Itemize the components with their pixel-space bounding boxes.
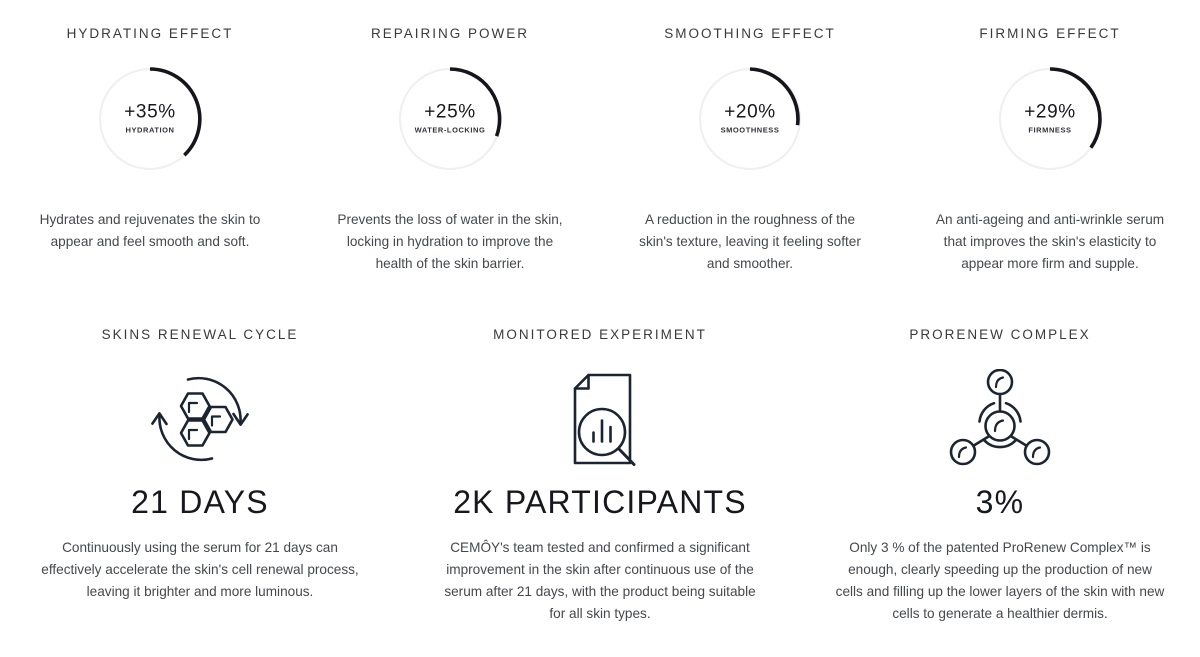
feature-headline: 3% bbox=[976, 484, 1025, 521]
gauge-card-firming: FIRMING EFFECT +29% FIRMNESS An anti-age… bbox=[900, 26, 1200, 275]
gauge-ring-icon bbox=[694, 63, 806, 175]
feature-title: SKINS RENEWAL CYCLE bbox=[102, 327, 299, 342]
document-analysis-icon bbox=[554, 366, 646, 472]
gauge-title: HYDRATING EFFECT bbox=[67, 26, 234, 41]
gauge-water-locking: +25% WATER-LOCKING bbox=[394, 63, 506, 175]
renewal-cycle-icon bbox=[148, 366, 252, 472]
feature-headline: 2K PARTICIPANTS bbox=[453, 484, 747, 521]
feature-row: SKINS RENEWAL CYCLE bbox=[0, 327, 1200, 625]
feature-title: MONITORED EXPERIMENT bbox=[493, 327, 707, 342]
gauge-ring-icon bbox=[394, 63, 506, 175]
gauge-row: HYDRATING EFFECT +35% HYDRATION Hydrates… bbox=[0, 0, 1200, 275]
feature-title: PRORENEW COMPLEX bbox=[909, 327, 1090, 342]
gauge-ring-icon bbox=[994, 63, 1106, 175]
gauge-card-repairing: REPAIRING POWER +25% WATER-LOCKING Preve… bbox=[300, 26, 600, 275]
molecule-icon bbox=[949, 366, 1051, 472]
gauge-card-smoothing: SMOOTHING EFFECT +20% SMOOTHNESS A reduc… bbox=[600, 26, 900, 275]
gauge-description: Hydrates and rejuvenates the skin to app… bbox=[27, 209, 274, 253]
gauge-title: REPAIRING POWER bbox=[371, 26, 529, 41]
feature-description: CEMÔY's team tested and confirmed a sign… bbox=[435, 537, 765, 625]
infographic-page: HYDRATING EFFECT +35% HYDRATION Hydrates… bbox=[0, 0, 1200, 657]
feature-description: Only 3 % of the patented ProRenew Comple… bbox=[835, 537, 1165, 625]
gauge-title: FIRMING EFFECT bbox=[979, 26, 1120, 41]
feature-card-renewal: SKINS RENEWAL CYCLE bbox=[0, 327, 400, 625]
feature-card-prorenew: PRORENEW COMPLEX bbox=[800, 327, 1200, 625]
gauge-smoothness: +20% SMOOTHNESS bbox=[694, 63, 806, 175]
gauge-firmness: +29% FIRMNESS bbox=[994, 63, 1106, 175]
gauge-description: An anti-ageing and anti-wrinkle serum th… bbox=[927, 209, 1174, 275]
feature-headline: 21 DAYS bbox=[131, 484, 269, 521]
gauge-description: Prevents the loss of water in the skin, … bbox=[327, 209, 574, 275]
gauge-title: SMOOTHING EFFECT bbox=[664, 26, 836, 41]
gauge-ring-icon bbox=[94, 63, 206, 175]
gauge-card-hydrating: HYDRATING EFFECT +35% HYDRATION Hydrates… bbox=[0, 26, 300, 275]
feature-description: Continuously using the serum for 21 days… bbox=[35, 537, 365, 603]
feature-card-experiment: MONITORED EXPERIMENT bbox=[400, 327, 800, 625]
gauge-description: A reduction in the roughness of the skin… bbox=[627, 209, 874, 275]
gauge-hydration: +35% HYDRATION bbox=[94, 63, 206, 175]
